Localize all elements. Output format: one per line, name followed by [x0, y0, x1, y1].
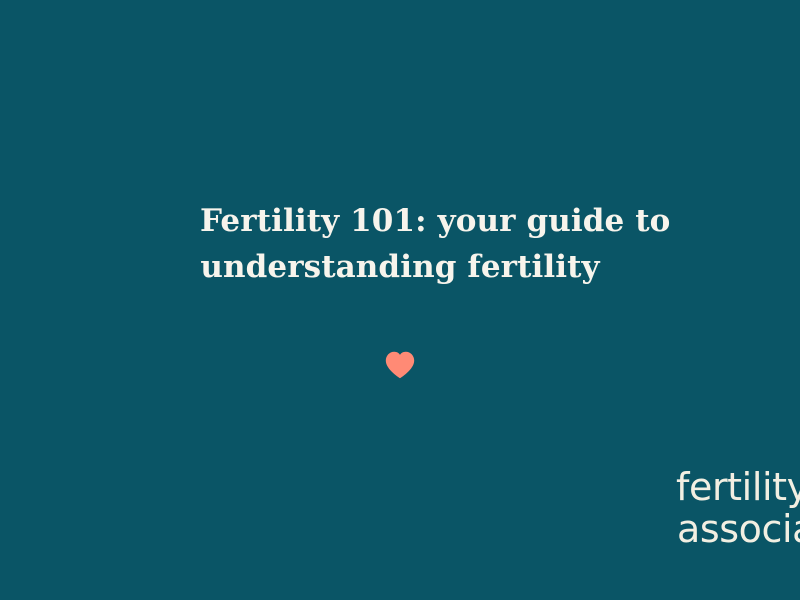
heart-icon — [383, 348, 417, 382]
brand-logo-line-1: fertility — [676, 468, 800, 506]
brand-logo: fertility associa — [676, 468, 800, 548]
page-title: Fertility 101: your guide to understandi… — [100, 198, 700, 290]
presentation-slide: Fertility 101: your guide to understandi… — [0, 0, 800, 600]
title-line-1: Fertility 101: your guide to — [200, 198, 600, 244]
brand-logo-line-2: associa — [677, 510, 800, 548]
title-line-2: understanding fertility — [200, 244, 600, 290]
